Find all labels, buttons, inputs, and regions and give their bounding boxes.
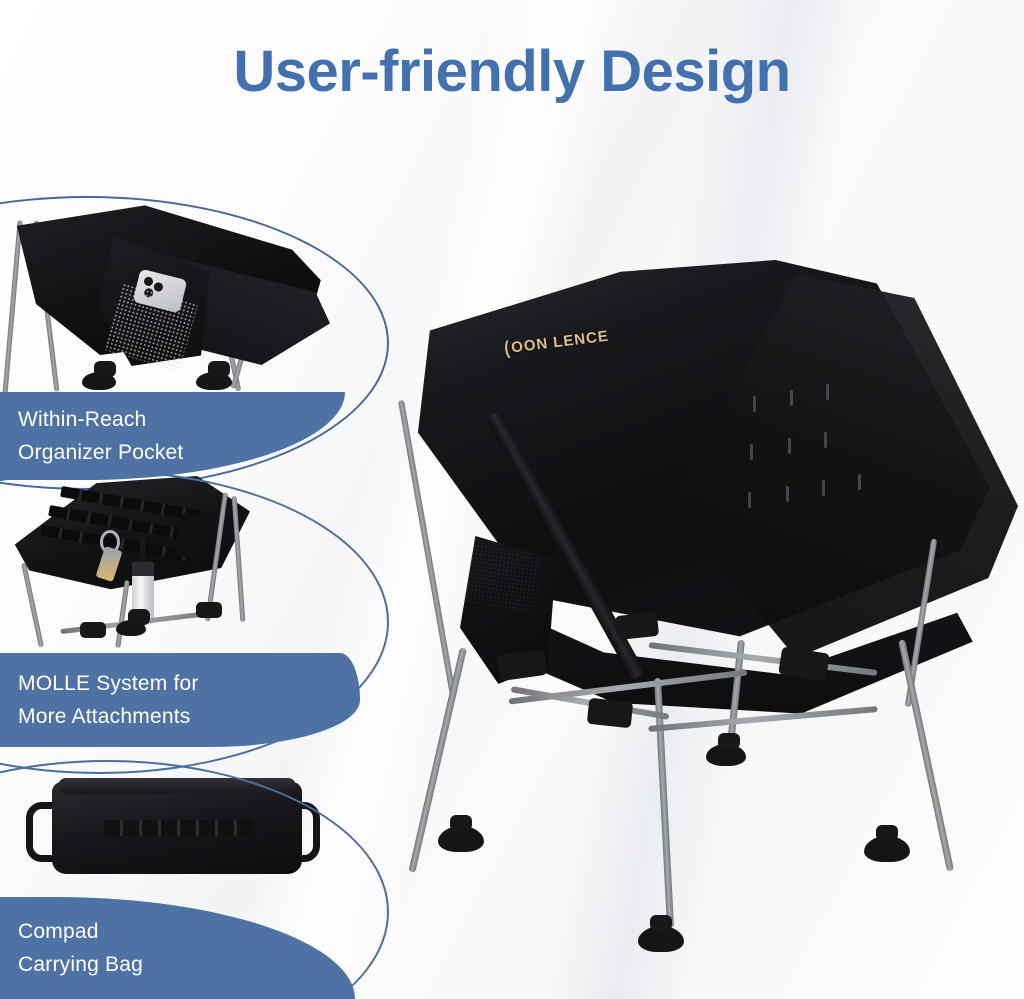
chair-foot xyxy=(706,744,746,766)
product-infographic: User-friendly Design Within-Reach Organi… xyxy=(0,0,1024,999)
frame-hub xyxy=(615,612,659,640)
caption-line-1: Compad xyxy=(18,915,355,948)
bag-zipper-top xyxy=(58,778,296,794)
caption-line-2: Carrying Bag xyxy=(18,948,355,981)
chair-leg xyxy=(2,220,22,396)
chair-shell: (OON LENCE xyxy=(398,248,1018,988)
chair-foot xyxy=(438,826,484,852)
feature-caption-carrying-bag: Compad Carrying Bag xyxy=(0,897,355,999)
frame-hub xyxy=(80,622,106,638)
main-product-photo: (OON LENCE xyxy=(398,248,1018,988)
chair-foot xyxy=(116,620,146,636)
feature-photo-organizer-pocket xyxy=(0,196,392,401)
frame-hub xyxy=(196,602,222,618)
caption-line-2: Organizer Pocket xyxy=(18,436,345,469)
feature-photo-carrying-bag xyxy=(0,768,392,906)
chair-foot xyxy=(864,836,910,862)
feature-photo-molle-system xyxy=(0,470,392,670)
chair-foot xyxy=(82,372,116,390)
caption-line-1: MOLLE System for xyxy=(18,667,360,700)
feature-caption-organizer-pocket: Within-Reach Organizer Pocket xyxy=(0,392,345,480)
side-pocket-mesh xyxy=(464,543,542,612)
caption-line-2: More Attachments xyxy=(18,700,360,733)
chair-foot xyxy=(196,372,232,390)
lantern-cap xyxy=(132,562,154,576)
feature-caption-molle-system: MOLLE System for More Attachments xyxy=(0,653,360,747)
bag-molle-strip xyxy=(104,820,252,836)
chair-foot xyxy=(638,926,684,952)
caption-line-1: Within-Reach xyxy=(18,403,345,436)
frame-hub xyxy=(587,698,633,728)
page-title: User-friendly Design xyxy=(0,38,1024,105)
chair-leg xyxy=(21,562,44,647)
lantern-strap xyxy=(140,532,145,562)
